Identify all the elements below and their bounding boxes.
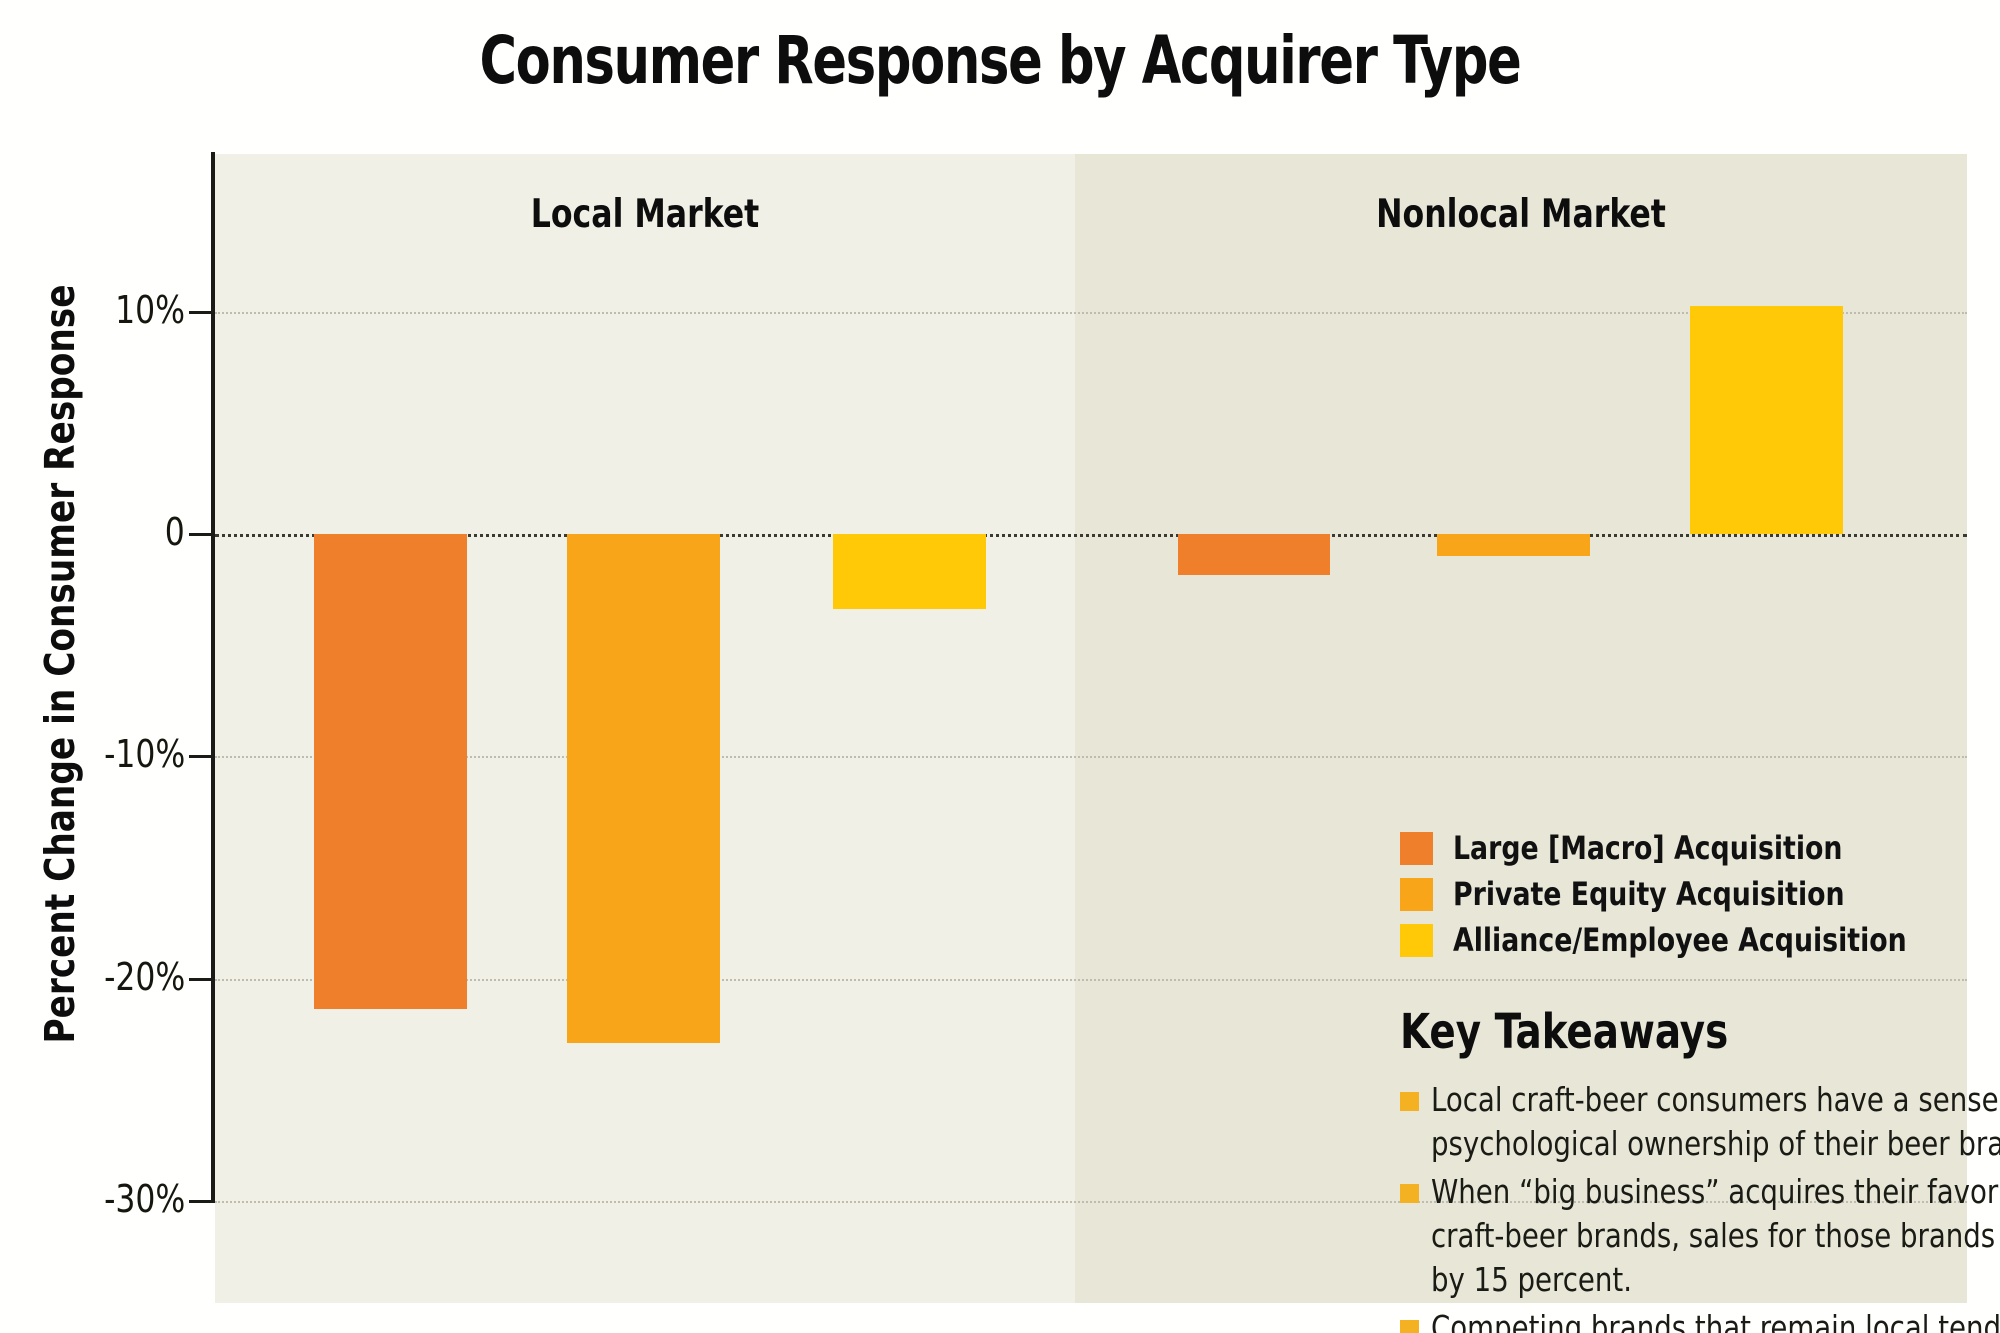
- legend-swatch-alliance-employee: [1400, 924, 1433, 957]
- bar-nonlocal-alliance-employee[interactable]: [1690, 306, 1843, 534]
- bar-nonlocal-private-equity[interactable]: [1437, 534, 1590, 556]
- y-tick-m30: [189, 1200, 215, 1203]
- y-tick-label-10: 10%: [115, 288, 185, 332]
- page-title: Consumer Response by Acquirer Type: [140, 22, 1860, 99]
- takeaway-item: Competing brands that remain local tend …: [1400, 1306, 2000, 1333]
- legend: Large [Macro] Acquisition Private Equity…: [1400, 826, 1941, 964]
- key-takeaways-title: Key Takeaways: [1400, 1004, 2000, 1060]
- y-tick-label-m20: -20%: [104, 955, 185, 999]
- gridline-minus10: [215, 756, 1967, 758]
- panel-title-local: Local Market: [258, 192, 1032, 237]
- legend-item-private-equity[interactable]: Private Equity Acquisition: [1400, 872, 1941, 916]
- y-tick-0: [189, 533, 215, 536]
- gridline-zero: [215, 534, 1967, 537]
- takeaway-item: When “big business” acquires their favor…: [1400, 1170, 2000, 1302]
- y-tick-m20: [189, 978, 215, 981]
- bar-nonlocal-large-macro[interactable]: [1178, 534, 1330, 575]
- y-axis-line: [211, 152, 215, 1203]
- legend-swatch-private-equity: [1400, 878, 1433, 911]
- chart-canvas: Consumer Response by Acquirer Type Local…: [0, 0, 2000, 1333]
- bullet-square-icon: [1400, 1320, 1419, 1333]
- gridline-minus20: [215, 979, 1967, 981]
- takeaway-text: When “big business” acquires their favor…: [1431, 1170, 2000, 1302]
- takeaway-text: Competing brands that remain local tend …: [1431, 1306, 2000, 1333]
- bullet-square-icon: [1400, 1184, 1419, 1203]
- takeaway-item: Local craft-beer consumers have a sense …: [1400, 1078, 2000, 1166]
- y-tick-label-m30: -30%: [104, 1177, 185, 1221]
- plot-area: Local Market Nonlocal Market Large [Macr…: [215, 154, 1967, 1303]
- bar-local-large-macro[interactable]: [314, 534, 467, 1009]
- legend-label-large-macro: Large [Macro] Acquisition: [1453, 829, 1842, 867]
- takeaway-text: Local craft-beer consumers have a sense …: [1431, 1078, 2000, 1166]
- y-axis-title: Percent Change in Consumer Response: [36, 106, 84, 1222]
- y-tick-label-m10: -10%: [104, 732, 185, 776]
- legend-label-private-equity: Private Equity Acquisition: [1453, 875, 1845, 913]
- legend-swatch-large-macro: [1400, 832, 1433, 865]
- legend-item-large-macro[interactable]: Large [Macro] Acquisition: [1400, 826, 1941, 870]
- y-tick-m10: [189, 755, 215, 758]
- bullet-square-icon: [1400, 1092, 1419, 1111]
- y-tick-10: [189, 311, 215, 314]
- y-tick-label-0: 0: [165, 510, 185, 554]
- legend-label-alliance-employee: Alliance/Employee Acquisition: [1453, 921, 1907, 959]
- bar-local-alliance-employee[interactable]: [833, 534, 986, 609]
- bar-local-private-equity[interactable]: [567, 534, 720, 1043]
- panel-title-nonlocal: Nonlocal Market: [1120, 192, 1923, 237]
- key-takeaways: Key Takeaways Local craft-beer consumers…: [1400, 1004, 2000, 1333]
- legend-item-alliance-employee[interactable]: Alliance/Employee Acquisition: [1400, 918, 1941, 962]
